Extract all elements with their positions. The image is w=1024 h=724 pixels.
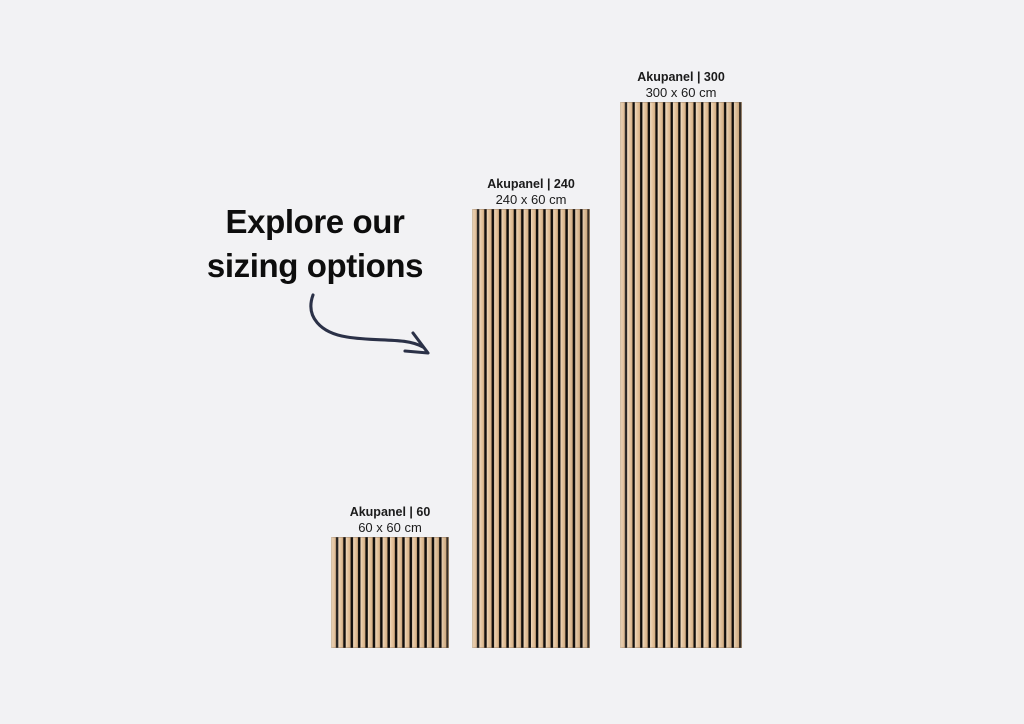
akupanel-300-left-edge (620, 102, 622, 648)
akupanel-60-title: Akupanel | 60 (280, 505, 500, 520)
sizing-options-graphic: Explore our sizing options Akupanel | 60… (0, 0, 1024, 724)
akupanel-240-left-edge (472, 209, 474, 648)
akupanel-60-dimensions: 60 x 60 cm (280, 520, 500, 536)
akupanel-60-label: Akupanel | 6060 x 60 cm (280, 505, 500, 536)
akupanel-240-dimensions: 240 x 60 cm (421, 192, 641, 208)
akupanel-300-title: Akupanel | 300 (571, 70, 791, 85)
akupanel-240-right-edge (588, 209, 590, 648)
curved-arrow (295, 285, 455, 370)
akupanel-240-label: Akupanel | 240240 x 60 cm (421, 177, 641, 208)
curved-arrow-icon (295, 285, 455, 370)
akupanel-240-title: Akupanel | 240 (421, 177, 641, 192)
akupanel-300-right-edge (740, 102, 742, 648)
page-title: Explore our sizing options (190, 200, 440, 288)
akupanel-300-board[interactable] (620, 102, 742, 648)
akupanel-60-right-edge (447, 537, 449, 648)
akupanel-60-left-edge (331, 537, 333, 648)
akupanel-60-board[interactable] (331, 537, 449, 648)
akupanel-240[interactable]: Akupanel | 240240 x 60 cm (472, 177, 590, 648)
akupanel-240-board[interactable] (472, 209, 590, 648)
akupanel-300-dimensions: 300 x 60 cm (571, 85, 791, 101)
akupanel-300-label: Akupanel | 300300 x 60 cm (571, 70, 791, 101)
akupanel-60[interactable]: Akupanel | 6060 x 60 cm (331, 505, 449, 648)
akupanel-300[interactable]: Akupanel | 300300 x 60 cm (620, 70, 742, 648)
